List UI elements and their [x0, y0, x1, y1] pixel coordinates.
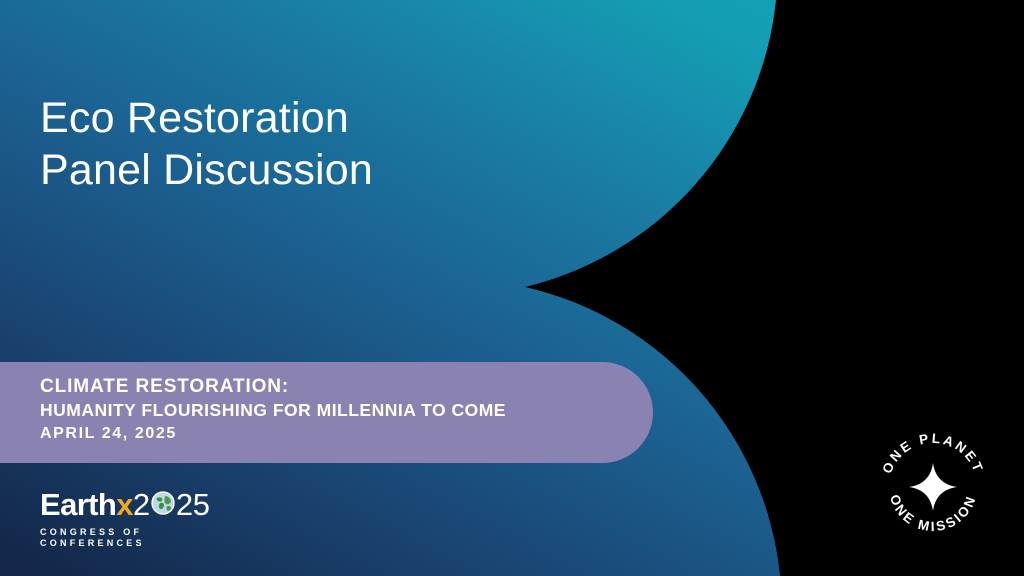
sparkle-star-icon: [909, 463, 957, 511]
logo-tagline: CONGRESS OF CONFERENCES: [40, 527, 235, 549]
event-title: CLIMATE RESTORATION:: [40, 375, 506, 399]
earthx-logo: Earth x 2 25 CONGRESS OF CONFERENCES: [40, 489, 235, 549]
logo-x-text: x: [116, 489, 133, 520]
event-subtitle: HUMANITY FLOURISHING FOR MILLENNIA TO CO…: [40, 399, 506, 422]
earthx-logo-wordmark: Earth x 2 25: [40, 489, 235, 522]
one-planet-one-mission-badge: ONE PLANET ONE MISSION: [873, 427, 993, 547]
logo-twofive-text: 25: [176, 489, 210, 520]
event-banner: CLIMATE RESTORATION: HUMANITY FLOURISHIN…: [0, 362, 653, 463]
logo-two-text: 2: [133, 489, 150, 520]
presentation-slide: Eco Restoration Panel Discussion CLIMATE…: [0, 0, 1024, 576]
globe-icon: [151, 491, 175, 515]
page-title: Eco Restoration Panel Discussion: [40, 92, 373, 196]
logo-earth-text: Earth: [40, 489, 116, 520]
event-banner-text: CLIMATE RESTORATION: HUMANITY FLOURISHIN…: [40, 375, 506, 445]
event-date: APRIL 24, 2025: [40, 422, 506, 445]
